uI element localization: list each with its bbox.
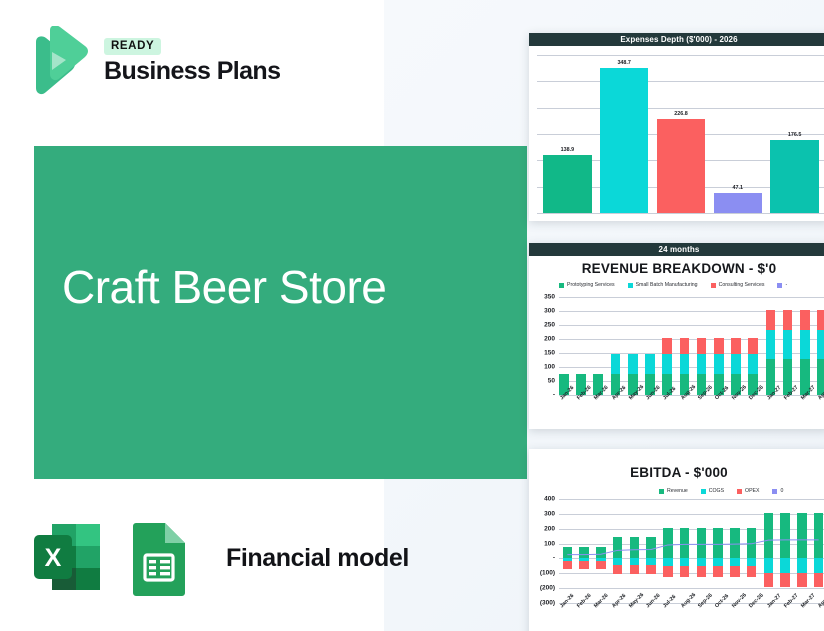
- stacked-column: [662, 297, 672, 395]
- stack-segment: [731, 338, 741, 354]
- bar: [714, 193, 762, 213]
- revenue-legend: Prototyping ServicesSmall Batch Manufact…: [529, 282, 824, 288]
- legend-swatch: [628, 283, 633, 288]
- stacked-column: [714, 297, 724, 395]
- stacked-column: [611, 297, 621, 395]
- chart-card-revenue-breakdown[interactable]: 24 months REVENUE BREAKDOWN - $'0 Protot…: [529, 243, 824, 429]
- stacked-column: [576, 297, 586, 395]
- revenue-period-banner: 24 months: [529, 243, 824, 256]
- legend-item: Small Batch Manufacturing: [628, 282, 698, 288]
- hero-panel: Craft Beer Store: [34, 146, 527, 479]
- legend-label: COGS: [709, 488, 724, 494]
- expenses-plot-area: 138.9348.7226.847.1176.5: [537, 55, 824, 213]
- legend-item: 0: [772, 488, 783, 494]
- ebitda-legend: RevenueCOGSOPEX0: [529, 488, 824, 494]
- stack-segment: [766, 330, 776, 359]
- y-tick-label: 400: [544, 496, 555, 503]
- revenue-y-axis: 35030025020015010050-: [531, 297, 557, 395]
- ebitda-plot-area: 400300200100-(100)(200)(300): [531, 499, 824, 603]
- y-tick-label: 250: [544, 322, 555, 329]
- stacked-column: [628, 297, 638, 395]
- brand-name: Business Plans: [104, 58, 280, 84]
- stack-segment: [697, 354, 707, 374]
- bar: [600, 68, 648, 213]
- ebitda-plot-inner: [559, 499, 824, 603]
- play-triangle-logo-icon: [28, 26, 90, 96]
- stack-segment: [800, 330, 810, 359]
- y-tick-label: -: [553, 555, 555, 562]
- legend-label: Small Batch Manufacturing: [636, 282, 698, 288]
- page-title: Craft Beer Store: [62, 262, 386, 313]
- revenue-x-axis: Jan-26Feb-26Mar-26Apr-26May-26Jun-26Jul-…: [559, 397, 824, 427]
- stack-segment: [680, 338, 690, 354]
- bar-group: 176.5: [770, 55, 818, 213]
- stack-segment: [697, 338, 707, 354]
- revenue-plot-area: 35030025020015010050-: [531, 297, 824, 395]
- stacked-column: [593, 297, 603, 395]
- stack-segment: [800, 310, 810, 330]
- legend-item: Consulting Services: [711, 282, 765, 288]
- bar: [770, 140, 818, 213]
- stack-segment: [611, 354, 621, 374]
- chart-card-ebitda[interactable]: EBITDA - $'000 RevenueCOGSOPEX0 40030020…: [529, 449, 824, 631]
- legend-label: OPEX: [745, 488, 759, 494]
- legend-swatch: [737, 489, 742, 494]
- legend-label: Consulting Services: [719, 282, 765, 288]
- stack-segment: [783, 310, 793, 330]
- ebitda-chart-title: EBITDA - $'000: [529, 465, 824, 480]
- stack-segment: [766, 310, 776, 330]
- legend-label: -: [785, 282, 787, 288]
- brand-text: READY Business Plans: [104, 38, 280, 84]
- stack-segment: [817, 330, 824, 359]
- ebitda-zero-line: [559, 499, 824, 598]
- stacked-column: [645, 297, 655, 395]
- legend-swatch: [701, 489, 706, 494]
- legend-item: Revenue: [659, 488, 688, 494]
- legend-swatch: [772, 489, 777, 494]
- legend-swatch: [659, 489, 664, 494]
- y-tick-label: (300): [540, 600, 555, 607]
- y-tick-label: (200): [540, 585, 555, 592]
- y-tick-label: 200: [544, 525, 555, 532]
- stacked-column: [800, 297, 810, 395]
- revenue-plot-inner: [559, 297, 824, 395]
- stack-segment: [817, 310, 824, 330]
- stacked-column: [817, 297, 824, 395]
- y-tick-label: 300: [544, 308, 555, 315]
- stacked-column: [559, 297, 569, 395]
- legend-item: OPEX: [737, 488, 759, 494]
- stack-segment: [748, 354, 758, 374]
- bar-group: 138.9: [543, 55, 591, 213]
- bar-group: 348.7: [600, 55, 648, 213]
- stack-segment: [714, 338, 724, 354]
- y-tick-label: 200: [544, 336, 555, 343]
- bar-group: 47.1: [714, 55, 762, 213]
- bar-value-label: 138.9: [561, 147, 575, 153]
- y-tick-label: 350: [544, 294, 555, 301]
- stack-segment: [748, 338, 758, 354]
- stacked-column: [680, 297, 690, 395]
- legend-swatch: [559, 283, 564, 288]
- stacked-column: [697, 297, 707, 395]
- ebitda-x-axis: Jan-26Feb-26Mar-26Apr-26May-26Jun-26Jul-…: [559, 605, 824, 631]
- legend-label: Revenue: [667, 488, 688, 494]
- stacked-column: [748, 297, 758, 395]
- slide-canvas: READY Business Plans Craft Beer Store X: [0, 0, 824, 631]
- expenses-bars: 138.9348.7226.847.1176.5: [539, 55, 823, 213]
- stack-segment: [783, 330, 793, 359]
- y-tick-label: 100: [544, 364, 555, 371]
- legend-swatch: [711, 283, 716, 288]
- bar-value-label: 47.1: [733, 185, 744, 191]
- bar: [543, 155, 591, 213]
- bar-value-label: 176.5: [788, 132, 802, 138]
- format-row: X Financial model: [30, 518, 409, 598]
- stacked-column: [766, 297, 776, 395]
- microsoft-excel-icon[interactable]: X: [30, 518, 105, 598]
- revenue-chart-title: REVENUE BREAKDOWN - $'0: [529, 261, 824, 276]
- stack-segment: [662, 338, 672, 354]
- ebitda-y-axis: 400300200100-(100)(200)(300): [531, 499, 557, 603]
- bar: [657, 119, 705, 213]
- y-tick-label: (100): [540, 570, 555, 577]
- financial-model-label: Financial model: [226, 544, 409, 573]
- y-tick-label: -: [553, 392, 555, 399]
- legend-label: 0: [780, 488, 783, 494]
- legend-swatch: [777, 283, 782, 288]
- bar-value-label: 226.8: [674, 111, 688, 117]
- ready-badge: READY: [104, 38, 161, 55]
- stack-segment: [645, 354, 655, 374]
- google-sheets-icon[interactable]: [123, 518, 198, 598]
- y-tick-label: 300: [544, 510, 555, 517]
- stack-segment: [662, 354, 672, 374]
- legend-item: -: [777, 282, 787, 288]
- bar-value-label: 348.7: [617, 60, 631, 66]
- legend-item: COGS: [701, 488, 724, 494]
- stacked-column: [731, 297, 741, 395]
- legend-item: Prototyping Services: [559, 282, 615, 288]
- stack-segment: [731, 354, 741, 374]
- stack-segment: [628, 354, 638, 374]
- stack-segment: [680, 354, 690, 374]
- stack-segment: [714, 354, 724, 374]
- chart-card-expenses-depth[interactable]: Expenses Depth ($'000) - 2026 138.9348.7…: [529, 33, 824, 221]
- svg-text:X: X: [45, 544, 62, 572]
- bar-group: 226.8: [657, 55, 705, 213]
- y-tick-label: 100: [544, 540, 555, 547]
- y-tick-label: 150: [544, 350, 555, 357]
- revenue-columns: [559, 297, 824, 395]
- legend-label: Prototyping Services: [567, 282, 615, 288]
- expenses-chart-title: Expenses Depth ($'000) - 2026: [529, 33, 824, 46]
- brand-lockup: READY Business Plans: [28, 26, 280, 96]
- stacked-column: [783, 297, 793, 395]
- y-tick-label: 50: [548, 378, 555, 385]
